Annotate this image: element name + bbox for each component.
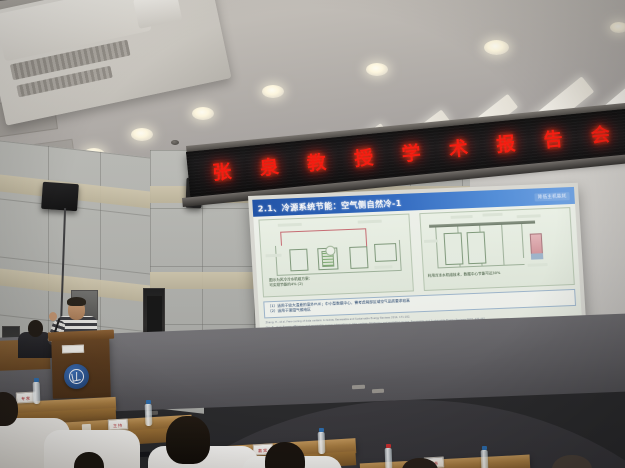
crest-mark <box>69 369 84 384</box>
presenter-hand <box>49 312 57 321</box>
banner-char: 告 <box>543 130 564 151</box>
banner-char: 学 <box>401 144 422 165</box>
banner-char: 会 <box>590 125 611 146</box>
slide-body: 图示为风冷冷水机组方案： 可实现节能约4% (2) <box>258 207 577 334</box>
diagram-right: 利用冷冻水机组技术，数据中心节能可达30% <box>419 207 575 291</box>
lecture-hall-photo: 张 泉 教 授 学 术 报 告 会 2.1、冷源系统节能：空气侧自然冷-1 降低… <box>0 0 625 468</box>
water-bottle <box>385 448 393 468</box>
banner-char: 授 <box>354 148 375 169</box>
water-bottle <box>481 450 489 468</box>
banner-char: 泉 <box>259 158 280 179</box>
stage-floor-marking <box>352 385 365 390</box>
bottle-cap <box>34 378 39 382</box>
smoke-detector <box>171 140 179 145</box>
slide-header-tag: 降低主机能耗 <box>535 192 570 201</box>
name-card: 主持 <box>108 418 129 430</box>
banner-char: 张 <box>212 162 233 183</box>
downlight <box>610 22 625 33</box>
downlight <box>262 85 284 98</box>
banner-char: 教 <box>306 153 327 174</box>
downlight <box>131 128 153 141</box>
bottle-cap <box>482 446 487 450</box>
water-bottle <box>318 432 326 454</box>
seated-attendee-head <box>28 320 43 337</box>
bottle-cap <box>386 444 391 448</box>
downlight <box>484 40 509 55</box>
lectern-nameplate <box>62 345 84 354</box>
bottle-cap <box>146 400 151 404</box>
water-bottle <box>145 404 153 426</box>
audience-member-head <box>166 416 210 464</box>
diagram-right-caption: 利用冷冻水机组技术，数据中心节能可达30% <box>428 268 572 279</box>
presenter-hair <box>67 297 86 306</box>
name-card-text: 主持 <box>109 422 127 429</box>
downlight <box>192 107 214 120</box>
banner-char: 术 <box>448 139 469 160</box>
banner-char: 报 <box>495 134 516 155</box>
diagram-left: 图示为风冷冷水机组方案： 可实现节能约4% (2) <box>258 214 414 298</box>
downlight <box>366 63 388 76</box>
university-crest-icon <box>64 364 89 389</box>
stage-floor-marking <box>372 389 384 394</box>
water-bottle <box>33 382 41 404</box>
wall-speaker-left <box>41 182 79 211</box>
slide-title: 2.1、冷源系统节能：空气侧自然冷-1 <box>257 196 402 214</box>
bottle-cap <box>319 428 324 432</box>
